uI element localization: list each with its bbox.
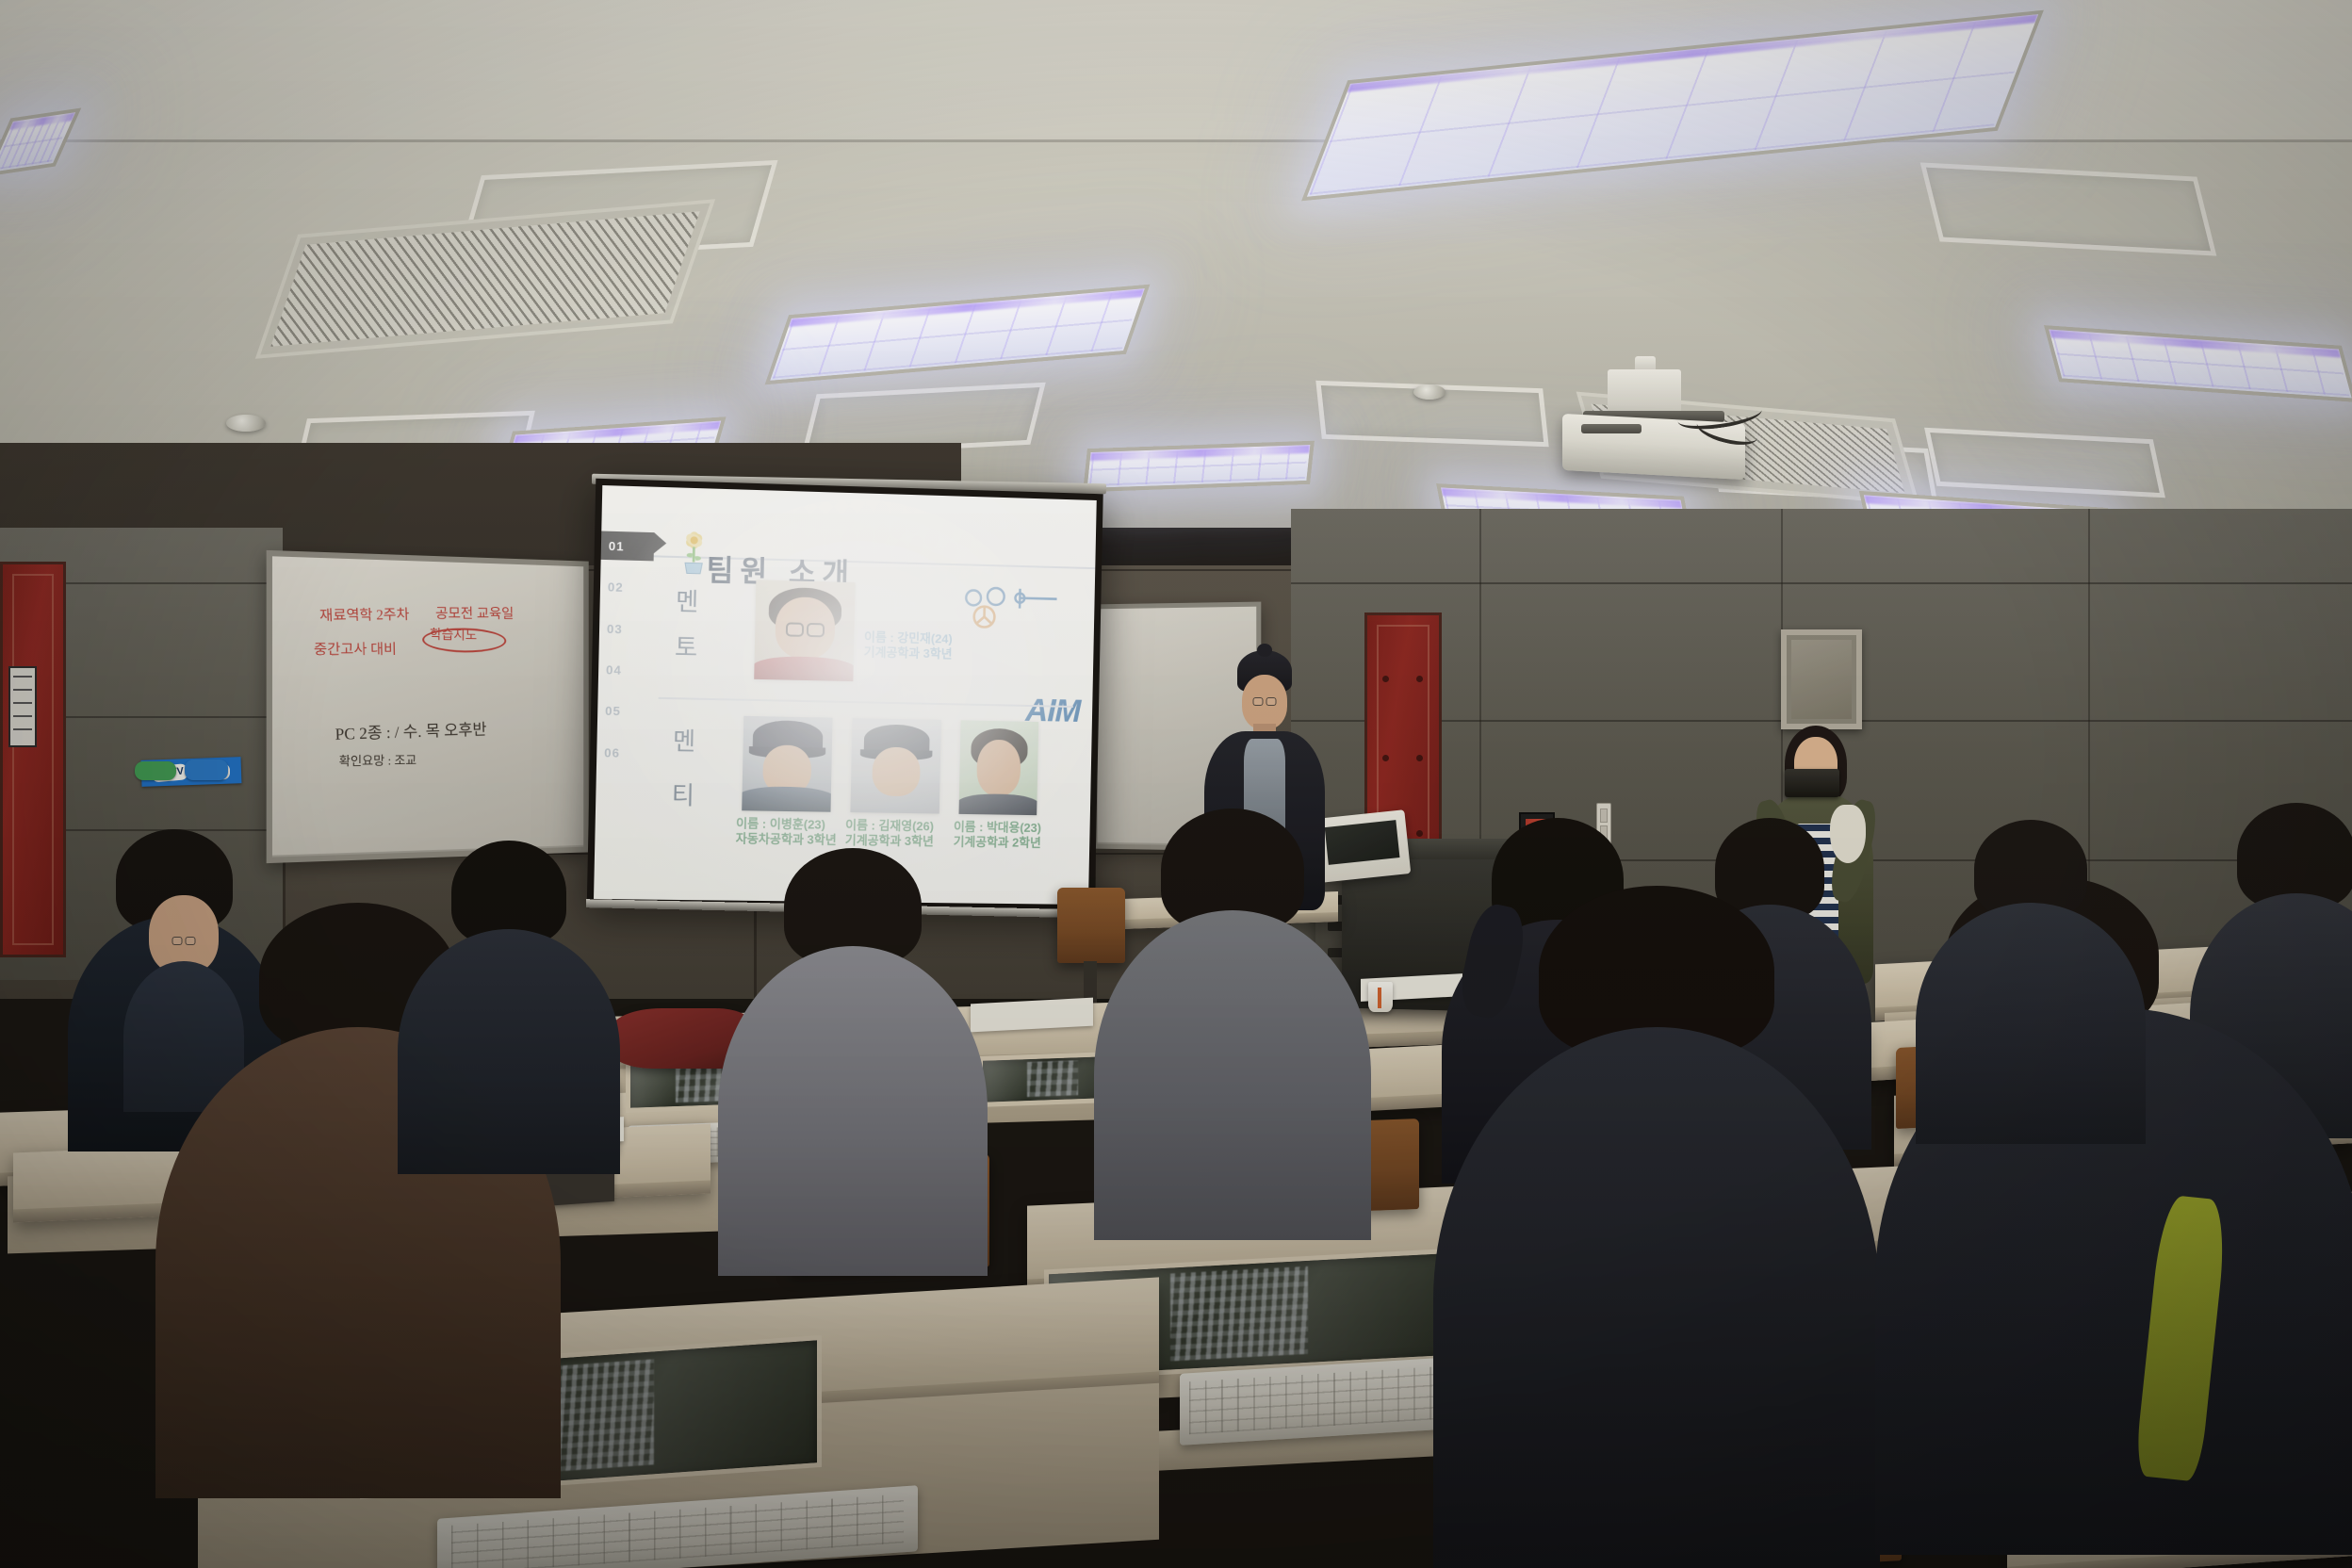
projection-screen: 팀원 소개 <box>587 479 1103 911</box>
mentor-name: 이름 : 강민재(24) <box>864 630 953 646</box>
role-label-mentor-char-1: 멘 <box>668 582 707 618</box>
mentor-dept: 기계공학과 3학년 <box>864 645 953 662</box>
mentor-photo <box>754 580 856 681</box>
slide-sidebar-item-02[interactable]: 02 <box>600 572 654 602</box>
slide-row-divider <box>659 697 1073 708</box>
camera[interactable] <box>1785 769 1839 797</box>
mentor-caption: 이름 : 강민재(24) 기계공학과 3학년 <box>864 630 953 662</box>
mentee-name-3: 이름 : 박대용(23) <box>954 820 1041 835</box>
slide-sidebar-item-04[interactable]: 04 <box>598 655 652 685</box>
glasses-icon <box>1253 697 1277 706</box>
slide-sidebar-item-06[interactable]: 06 <box>596 738 650 768</box>
slide-sidebar-item-03[interactable]: 03 <box>599 613 653 644</box>
classroom-scene: CCTV 가동 중 재료역학 2주차 공모전 교육일 학습지도 중간고사 대비 … <box>0 0 2352 1568</box>
slide-sidebar-item-01[interactable]: 01 <box>601 531 655 561</box>
whiteboard-red-text: 공모전 교육일 <box>435 608 514 622</box>
person-audience-6 <box>1091 808 1374 1223</box>
wall-picture-frame <box>1781 629 1862 729</box>
sticker-green <box>135 761 176 780</box>
whiteboard-red-text: 재료역학 2주차 <box>319 609 410 625</box>
mentee-dept-2: 기계공학과 3학년 <box>845 833 934 849</box>
whiteboard-circled-text: 학습지도 <box>430 629 477 644</box>
person-audience-4 <box>396 841 622 1161</box>
slide-sidebar-item-05[interactable]: 05 <box>597 696 651 727</box>
ceiling-light <box>1083 441 1315 492</box>
door-left-red[interactable] <box>0 562 66 957</box>
audience-torso <box>1916 903 2146 1144</box>
sticker-blue <box>185 759 228 780</box>
slide-sidebar: 01 02 03 04 05 06 <box>594 485 655 900</box>
whiteboard-black-text: PC 2종 : / 수. 목 오후반 <box>335 722 486 743</box>
audience-gray-jacket <box>718 946 988 1276</box>
whiteboard-red-text: 중간고사 대비 <box>314 644 397 659</box>
ceiling-panel-frame <box>1920 162 2217 255</box>
audience-torso <box>398 929 620 1174</box>
audience-gray-suit <box>1094 910 1371 1240</box>
audience-puffer-jacket <box>1433 1027 1880 1568</box>
person-audience-5 <box>716 848 989 1263</box>
mentee-name-1: 이름 : 이병훈(23) <box>736 816 825 831</box>
whiteboard: 재료역학 2주차 공모전 교육일 학습지도 중간고사 대비 PC 2종 : / … <box>267 550 589 863</box>
projector-mount-column <box>1608 369 1681 416</box>
role-label-mentee-char-2: 티 <box>663 776 702 811</box>
mentee-photo-1 <box>742 715 833 811</box>
mentee-photo-3 <box>959 720 1039 815</box>
role-label-mentee-char-1: 멘 <box>664 723 703 759</box>
person-audience-10 <box>1430 886 1883 1568</box>
mentee-caption-1: 이름 : 이병훈(23) 자동차공학과 3학년 <box>736 816 838 847</box>
smoke-detector <box>1413 384 1445 400</box>
ceiling-edge <box>0 139 2352 142</box>
slide-content: 팀원 소개 <box>594 485 1097 905</box>
smoke-detector <box>226 415 266 432</box>
mentee-photo-2 <box>851 718 941 813</box>
person-audience-12 <box>1913 820 2148 1131</box>
mentee-caption-2: 이름 : 김재영(26) 기계공학과 3학년 <box>845 818 935 849</box>
aim-logo-icon <box>959 586 1083 636</box>
role-label-mentor-char-2: 토 <box>667 628 706 663</box>
mentee-name-2: 이름 : 김재영(26) <box>845 818 934 833</box>
door-notice <box>8 666 37 747</box>
projector-vent <box>1581 424 1641 433</box>
whiteboard-black-text: 확인요망 : 조교 <box>339 754 416 767</box>
mentee-caption-3: 이름 : 박대용(23) 기계공학과 2학년 <box>954 820 1042 851</box>
mentee-dept-1: 자동차공학과 3학년 <box>736 831 837 847</box>
